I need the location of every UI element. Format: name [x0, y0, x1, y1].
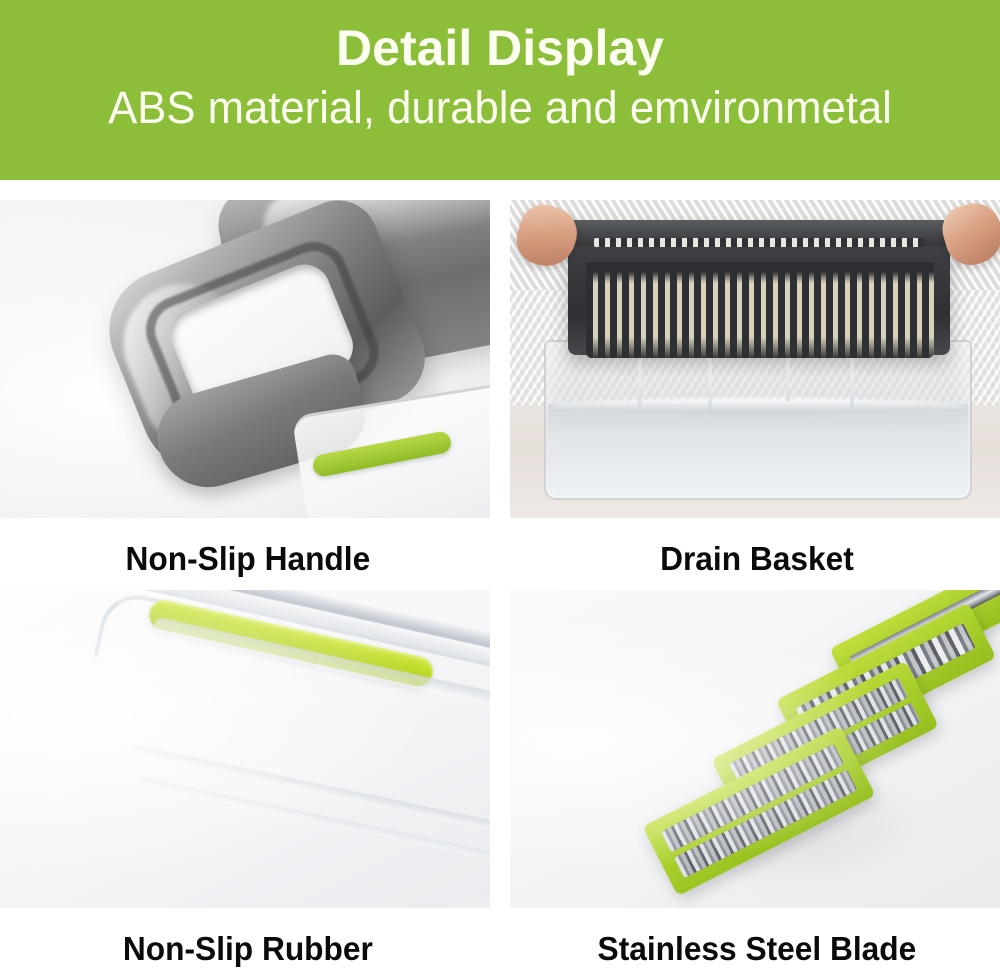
feature-panel-drain-basket: Drain Basket [510, 200, 1000, 578]
feature-panel-non-slip-rubber: Non-Slip Rubber [0, 590, 490, 968]
panel-caption: Stainless Steel Blade [520, 930, 990, 968]
feature-panel-non-slip-handle: Non-Slip Handle [0, 200, 490, 578]
water-surface-line [550, 398, 966, 414]
panel-caption: Non-Slip Handle [10, 540, 480, 578]
detail-display-page: Detail Display ABS material, durable and… [0, 0, 1000, 979]
drain-basket-photo [510, 200, 1000, 518]
water-drip [850, 350, 854, 408]
page-title: Detail Display [0, 22, 1000, 75]
panel-caption: Non-Slip Rubber [10, 930, 480, 968]
header-banner: Detail Display ABS material, durable and… [0, 0, 1000, 180]
water-body [548, 404, 968, 496]
feature-panel-stainless-steel-blade: Stainless Steel Blade [510, 590, 1000, 968]
non-slip-rubber-photo [0, 590, 490, 908]
water-drip [786, 352, 790, 402]
photo-sheen [0, 590, 490, 908]
photo-sheen [510, 590, 1000, 908]
page-subtitle: ABS material, durable and emvironmetal [15, 83, 985, 133]
non-slip-handle-photo [0, 200, 490, 518]
water-drip [638, 352, 642, 406]
basket-slot-shading [586, 262, 934, 358]
drain-basket [568, 220, 950, 355]
panel-caption: Drain Basket [520, 540, 990, 578]
stainless-steel-blade-photo [510, 590, 1000, 908]
feature-grid: Non-Slip Handle [0, 200, 1000, 979]
clear-water-container [544, 340, 972, 500]
basket-rim-holes [594, 238, 924, 247]
water-drip [708, 350, 712, 412]
